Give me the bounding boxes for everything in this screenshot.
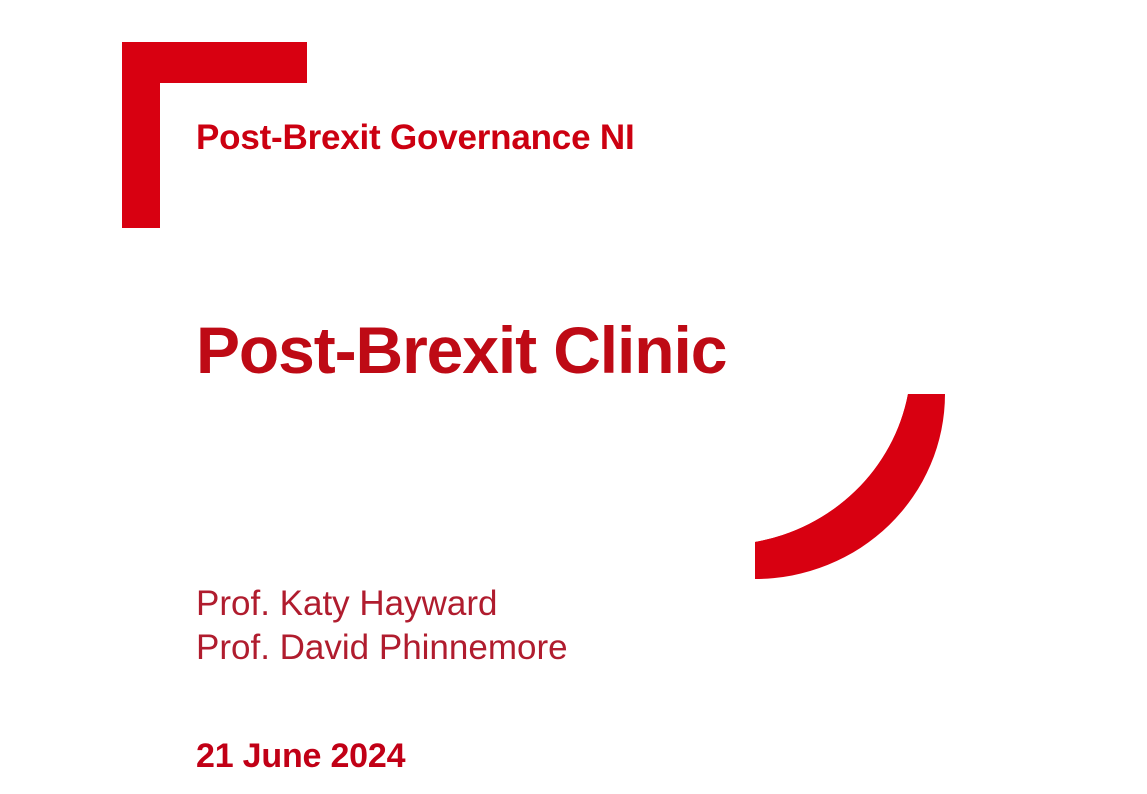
organisation-title: Post-Brexit Governance NI [196, 118, 634, 158]
slide-title: Post-Brexit Clinic [196, 314, 726, 387]
arc-path [755, 394, 945, 579]
corner-bracket-vertical-arm [122, 42, 160, 228]
arc-decoration [755, 394, 945, 579]
presentation-slide: Post-Brexit Governance NI Post-Brexit Cl… [0, 0, 1147, 794]
presenter-name: Prof. Katy Hayward [196, 582, 568, 626]
presenter-list: Prof. Katy Hayward Prof. David Phinnemor… [196, 582, 568, 670]
presenter-name: Prof. David Phinnemore [196, 626, 568, 670]
corner-bracket-horizontal-arm [122, 42, 307, 83]
arc-band-path [755, 394, 945, 579]
slide-date: 21 June 2024 [196, 737, 405, 776]
